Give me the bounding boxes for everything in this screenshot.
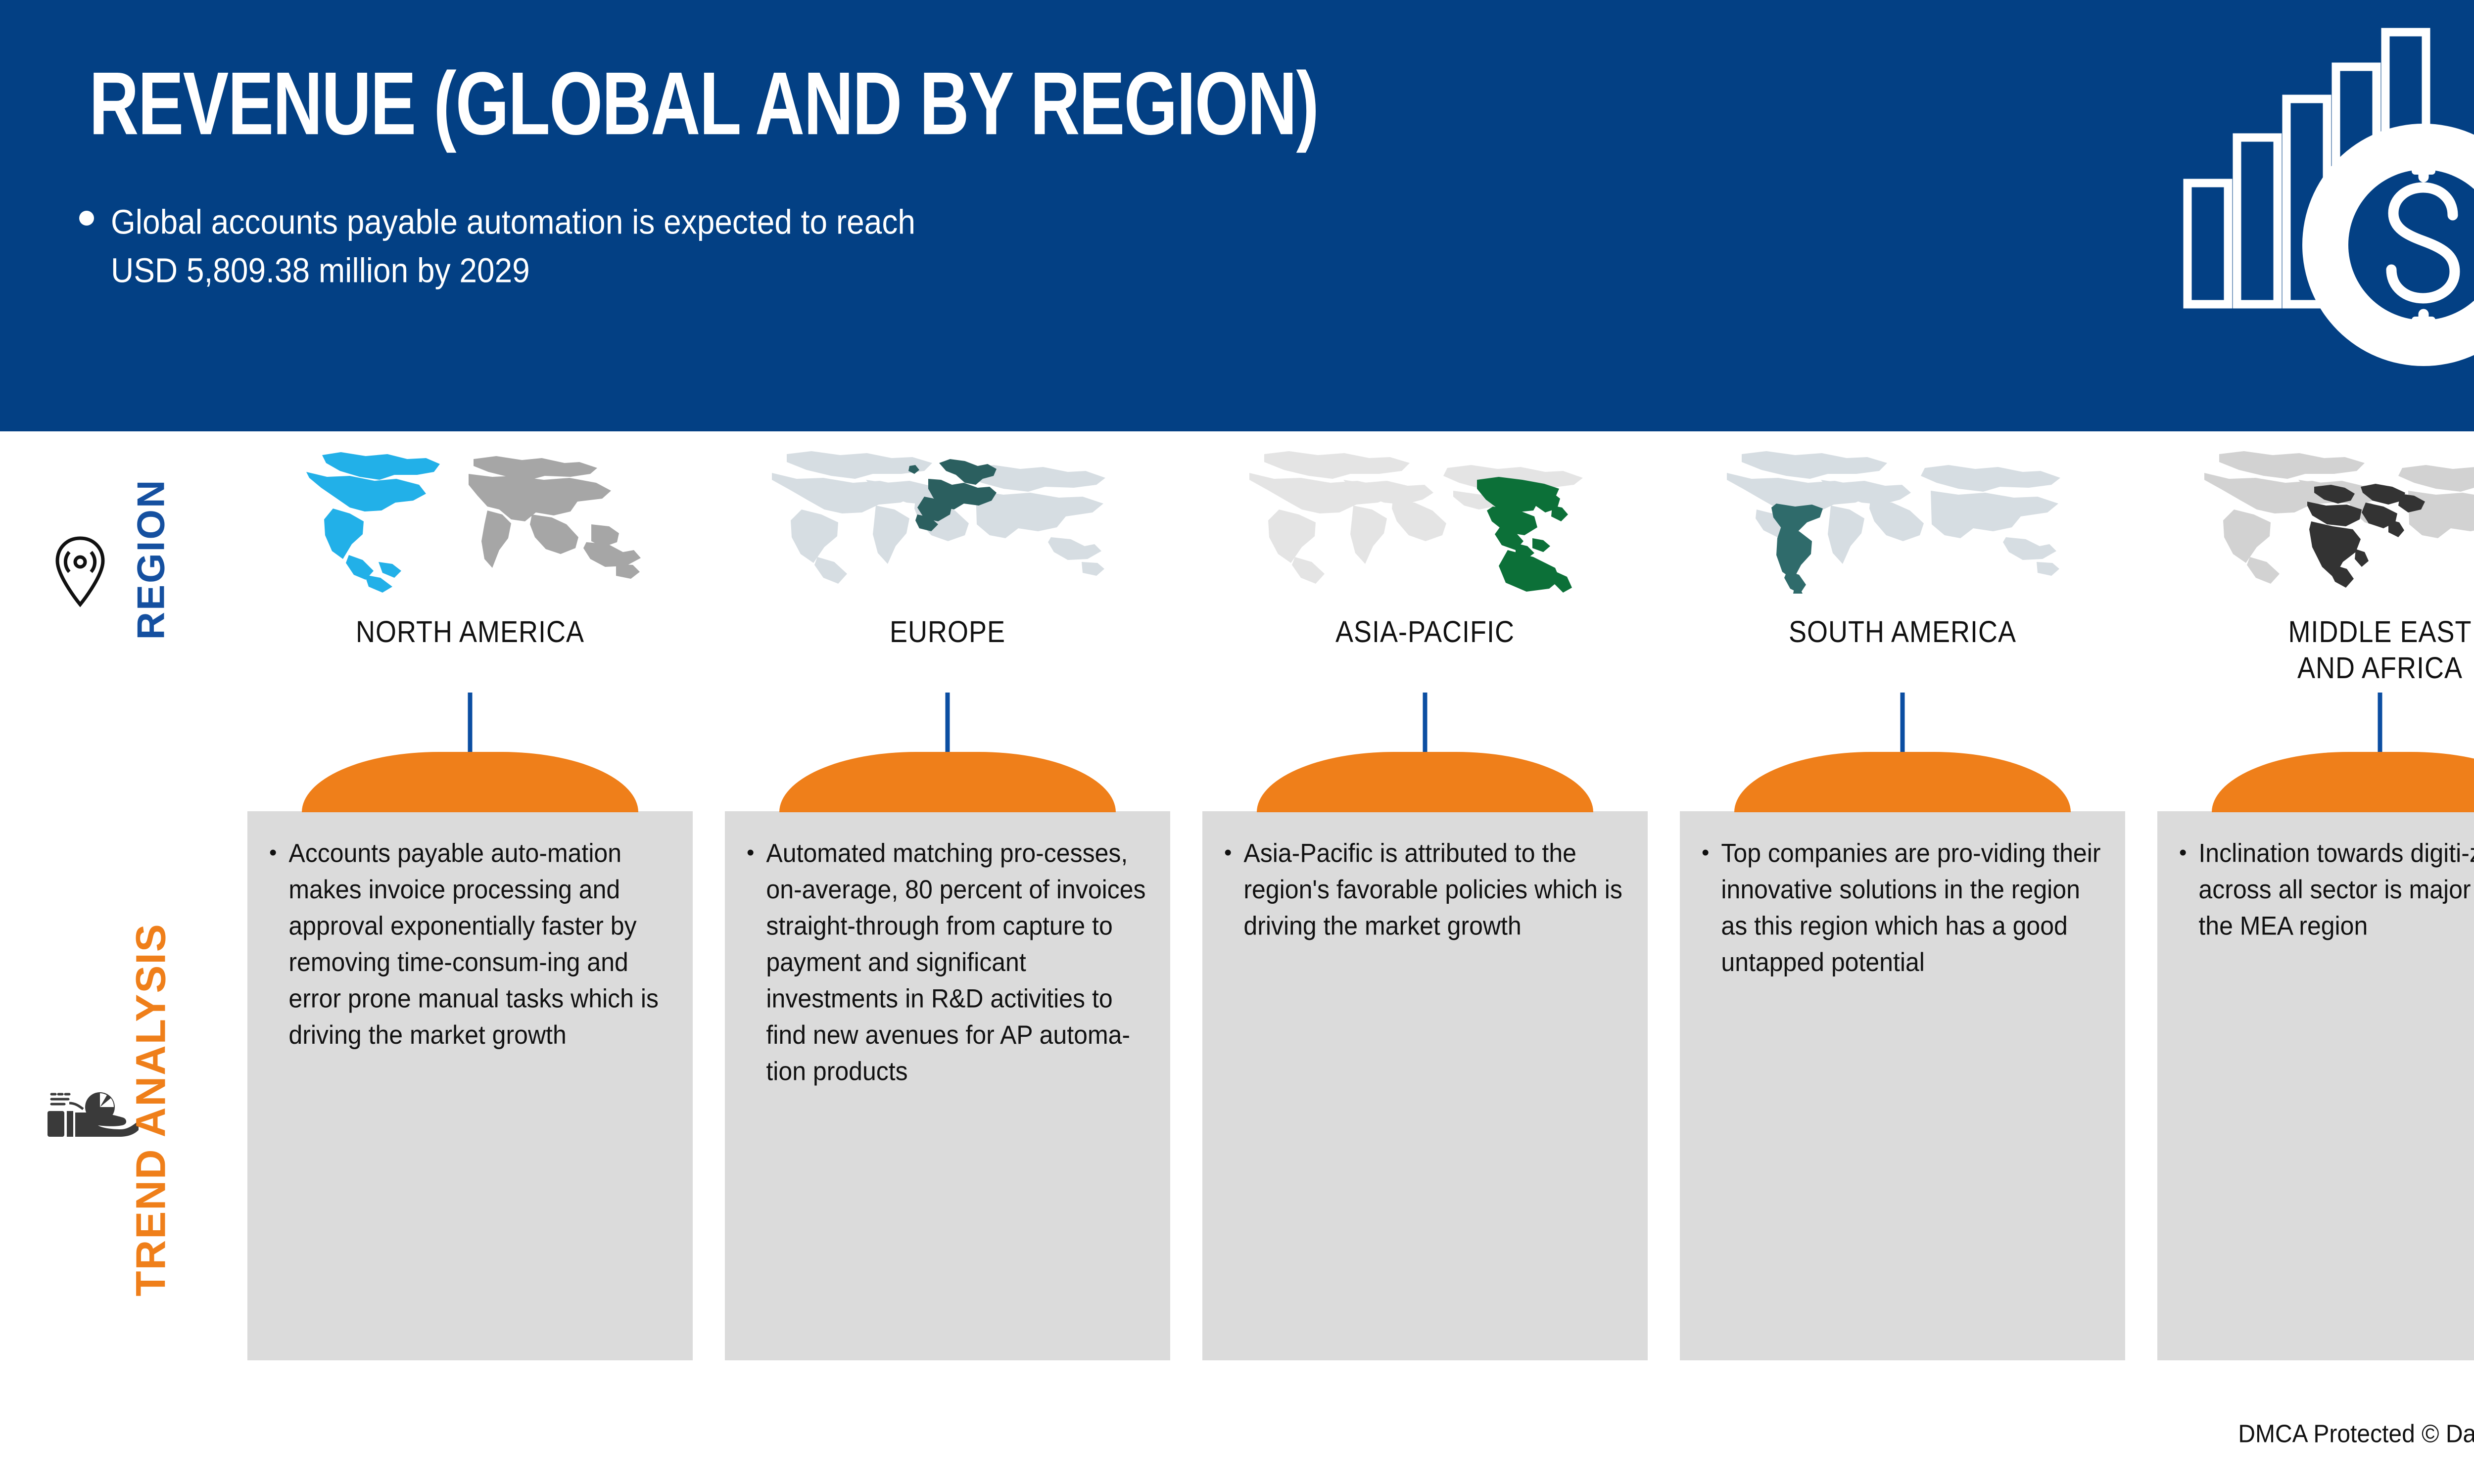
trend-bullet-text: Accounts payable auto-mation makes invoi… [288, 835, 674, 1053]
world-map-south-america-highlight [1707, 445, 2098, 594]
trend-bullet: • Automated matching pro-cesses, on-aver… [747, 835, 1151, 1077]
trend-bullet-text: Inclination towards digiti-zation across… [2198, 835, 2474, 944]
region-label-text: REGION [129, 441, 174, 678]
bullet-marker-icon: • [747, 842, 754, 864]
trend-panel: • Inclination towards digiti-zation acro… [2157, 811, 2474, 1360]
trend-bullet: • Inclination towards digiti-zation acro… [2179, 835, 2474, 939]
region-column-middle-east-africa: MIDDLE EAST AND AFRICA • Inclination tow… [2157, 445, 2474, 677]
header-bullet-text: Global accounts payable automation is ex… [111, 198, 915, 295]
location-pin-icon [50, 534, 110, 608]
world-map-middle-east-africa-highlight [2185, 445, 2474, 594]
footer-copyright: DMCA Protected © DataBridge [2238, 1420, 2474, 1448]
regions-grid: NORTH AMERICA • Accounts payable auto-ma… [247, 445, 2474, 1375]
trend-bullet-text: Top companies are pro-viding their innov… [1721, 835, 2106, 980]
region-name-label: EUROPE [725, 614, 1170, 650]
region-name-label: ASIA-PACIFIC [1202, 614, 1648, 650]
trend-panel: • Accounts payable auto-mation makes inv… [247, 811, 693, 1360]
trend-panel: • Top companies are pro-viding their inn… [1680, 811, 2125, 1360]
trend-bullet: • Top companies are pro-viding their inn… [1702, 835, 2106, 974]
trend-analysis-axis-label: TREND ANALYSIS [124, 871, 178, 1355]
trend-bullet: • Asia-Pacific is attributed to the regi… [1224, 835, 1629, 939]
hand-holding-pie-chart-icon [45, 1064, 139, 1138]
header-text-block: REVENUE (GLOBAL AND BY REGION) [89, 59, 1771, 133]
bullet-marker-icon: • [269, 842, 277, 864]
header-banner: REVENUE (GLOBAL AND BY REGION) Global ac… [0, 0, 2474, 431]
region-name-label: SOUTH AMERICA [1680, 614, 2125, 650]
infographic-page: REVENUE (GLOBAL AND BY REGION) Global ac… [0, 0, 2474, 1484]
bar-chart-dollar-icon [2154, 20, 2474, 411]
trend-panel: • Automated matching pro-cesses, on-aver… [725, 811, 1170, 1360]
bullet-dot-icon [79, 211, 94, 226]
bullet-marker-icon: • [1224, 842, 1232, 864]
region-column-europe: EUROPE • Automated matching pro-cesses, … [725, 445, 1170, 646]
region-name-label: MIDDLE EAST AND AFRICA [2157, 614, 2474, 686]
region-name-label: NORTH AMERICA [247, 614, 693, 650]
region-axis-label: REGION [124, 445, 178, 683]
bullet-marker-icon: • [2179, 842, 2187, 864]
region-column-south-america: SOUTH AMERICA • Top companies are pro-vi… [1680, 445, 2125, 646]
trend-label-text: TREND ANALYSIS [127, 868, 175, 1352]
trend-bullet-text: Automated matching pro-cesses, on-averag… [766, 835, 1151, 1090]
panel-dome-accent [1257, 752, 1593, 812]
region-column-asia-pacific: ASIA-PACIFIC • Asia-Pacific is attribute… [1202, 445, 1648, 646]
page-title: REVENUE (GLOBAL AND BY REGION) [89, 59, 1670, 149]
header-bullet: Global accounts payable automation is ex… [79, 198, 915, 288]
panel-dome-accent [1734, 752, 2071, 812]
trend-panel: • Asia-Pacific is attributed to the regi… [1202, 811, 1648, 1360]
panel-dome-accent [302, 752, 638, 812]
panel-dome-accent [779, 752, 1116, 812]
world-map-north-america-highlight [275, 445, 666, 594]
bullet-marker-icon: • [1702, 842, 1709, 864]
panel-dome-accent [2212, 752, 2474, 812]
world-map-asia-pacific-highlight [1230, 445, 1620, 594]
trend-bullet: • Accounts payable auto-mation makes inv… [269, 835, 674, 1043]
world-map-europe-highlight [752, 445, 1143, 594]
region-column-north-america: NORTH AMERICA • Accounts payable auto-ma… [247, 445, 693, 646]
trend-bullet-text: Asia-Pacific is attributed to the region… [1243, 835, 1629, 944]
